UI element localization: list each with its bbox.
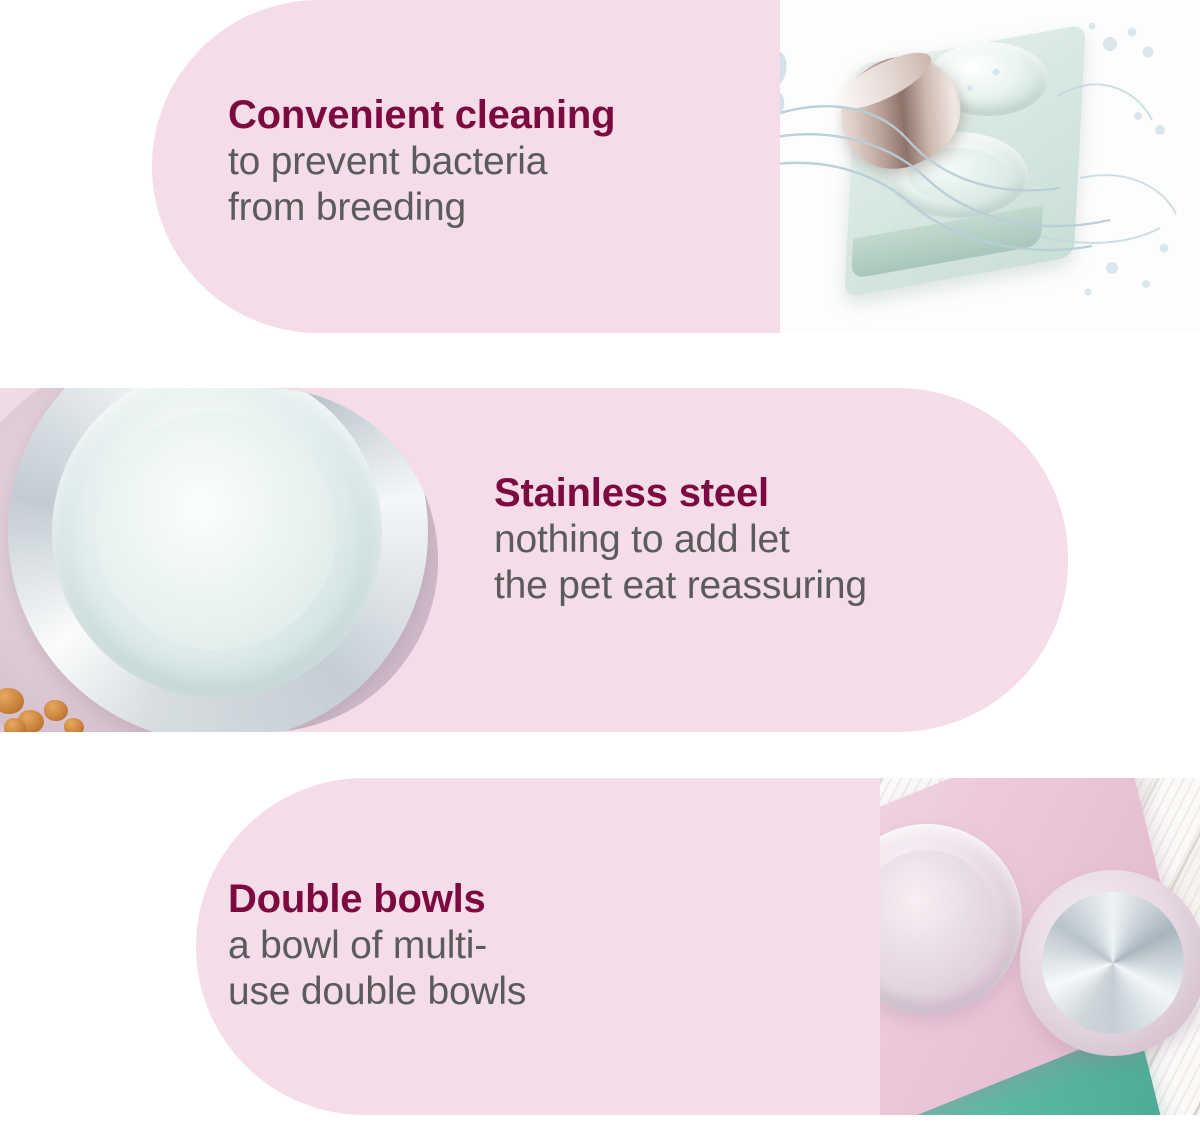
feature-body-line-1: nothing to add let [494,517,867,563]
feature-text-stainless-steel: Stainless steel nothing to add let the p… [494,470,867,609]
feature-body-line-1: a bowl of multi- [228,923,526,969]
feature-section-convenient-cleaning: Convenient cleaning to prevent bacteria … [0,0,1200,333]
feature-body-line-2: from breeding [228,185,615,231]
steel-bowl-in-tray [1020,870,1200,1056]
feature-infographic: Convenient cleaning to prevent bacteria … [0,0,1200,1130]
feature-section-stainless-steel: Stainless steel nothing to add let the p… [0,388,1200,732]
feature-body-line-1: to prevent bacteria [228,139,615,185]
product-photo-steel-bowl-macro [0,388,438,732]
feature-headline: Stainless steel [494,470,867,517]
feature-body-line-2: the pet eat reassuring [494,563,867,609]
feature-section-double-bowls: Double bowls a bowl of multi- use double… [0,778,1200,1115]
feature-text-double-bowls: Double bowls a bowl of multi- use double… [228,876,526,1015]
feature-headline: Double bowls [228,876,526,923]
feature-text-convenient-cleaning: Convenient cleaning to prevent bacteria … [228,92,615,231]
feature-headline: Convenient cleaning [228,92,615,139]
feature-body-line-2: use double bowls [228,969,526,1015]
